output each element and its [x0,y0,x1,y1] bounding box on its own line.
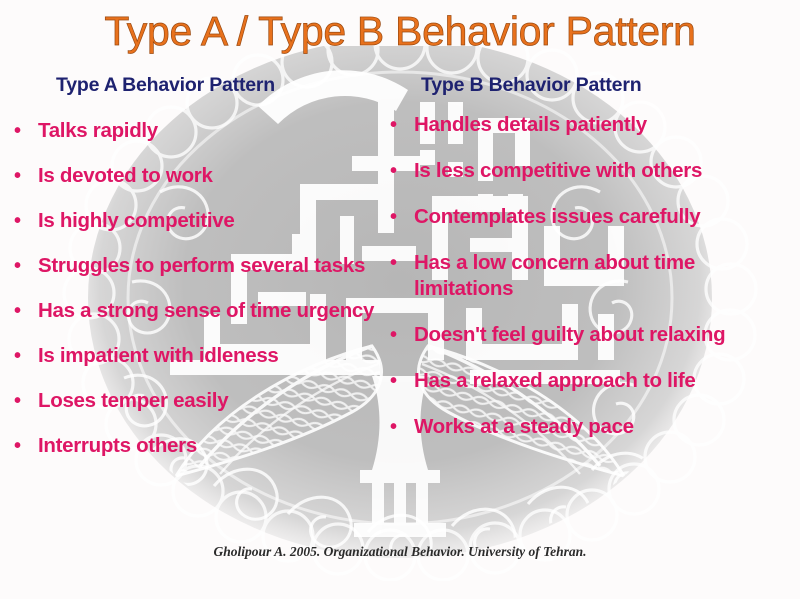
list-item: • Works at a steady pace [386,414,790,440]
list-item: • Is devoted to work [10,163,385,189]
bullet-dot-icon: • [10,118,38,144]
bullet-dot-icon: • [10,298,38,324]
list-item-label: Has a low concern about time limitations [414,250,790,302]
list-item: • Interrupts others [10,433,385,459]
list-item-label: Has a strong sense of time urgency [38,298,385,324]
list-item-label: Is less competitive with others [414,158,790,184]
bullet-dot-icon: • [386,158,414,184]
list-item: • Has a relaxed approach to life [386,368,790,394]
slide-canvas: Type A / Type B Behavior Pattern Type A … [0,0,800,599]
bullet-list-type-b: • Handles details patiently • Is less co… [386,112,790,460]
bullet-dot-icon: • [10,163,38,189]
list-item-label: Interrupts others [38,433,385,459]
list-item-label: Struggles to perform several tasks [38,253,385,279]
bullet-dot-icon: • [386,368,414,394]
page-title: Type A / Type B Behavior Pattern [0,8,800,55]
bullet-dot-icon: • [10,433,38,459]
list-item-label: Has a relaxed approach to life [414,368,790,394]
list-item: • Doesn't feel guilty about relaxing [386,322,790,348]
column-heading-type-b: Type B Behavior Pattern [421,74,641,97]
source-citation: Gholipour A. 2005. Organizational Behavi… [0,544,800,560]
list-item-label: Is impatient with idleness [38,343,385,369]
list-item: • Is less competitive with others [386,158,790,184]
list-item-label: Doesn't feel guilty about relaxing [414,322,790,348]
bullet-dot-icon: • [386,322,414,348]
bullet-list-type-a: • Talks rapidly • Is devoted to work • I… [10,118,385,478]
list-item: • Contemplates issues carefully [386,204,790,230]
bullet-dot-icon: • [386,414,414,440]
bullet-dot-icon: • [386,112,414,138]
list-item: • Handles details patiently [386,112,790,138]
list-item-label: Is devoted to work [38,163,385,189]
bullet-dot-icon: • [10,343,38,369]
column-heading-type-a: Type A Behavior Pattern [56,74,275,97]
list-item: • Is impatient with idleness [10,343,385,369]
list-item: • Is highly competitive [10,208,385,234]
list-item-label: Handles details patiently [414,112,790,138]
list-item-label: Contemplates issues carefully [414,204,790,230]
list-item-label: Loses temper easily [38,388,385,414]
list-item-label: Is highly competitive [38,208,385,234]
bullet-dot-icon: • [10,253,38,279]
bullet-dot-icon: • [10,388,38,414]
list-item-label: Works at a steady pace [414,414,790,440]
list-item: • Has a low concern about time limitatio… [386,250,790,302]
bullet-dot-icon: • [386,204,414,230]
list-item-label: Talks rapidly [38,118,385,144]
bullet-dot-icon: • [386,250,414,276]
list-item: • Loses temper easily [10,388,385,414]
list-item: • Has a strong sense of time urgency [10,298,385,324]
list-item: • Struggles to perform several tasks [10,253,385,279]
bullet-dot-icon: • [10,208,38,234]
list-item: • Talks rapidly [10,118,385,144]
